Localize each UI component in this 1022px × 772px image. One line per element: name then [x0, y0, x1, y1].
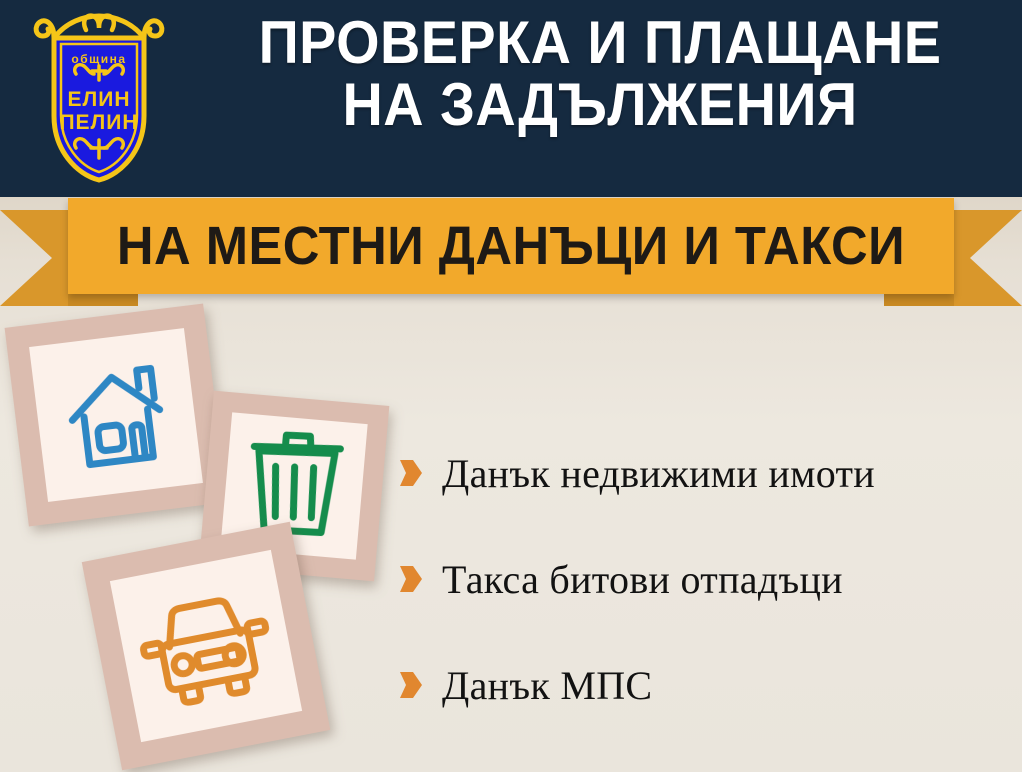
arrow-bullet-icon: [400, 460, 422, 486]
header-bar: община ЕЛИН ПЕЛИН ПРОВЕРКА И ПЛАЩАНЕ НА …: [0, 0, 1022, 197]
stamp-perforated-edge: [5, 304, 228, 527]
page-title-line-2: НА ЗАДЪЛЖЕНИЯ: [219, 74, 982, 136]
ribbon-main-panel: НА МЕСТНИ ДАНЪЦИ И ТАКСИ: [68, 198, 954, 294]
coat-of-arms-shield-icon: [24, 8, 174, 188]
list-item[interactable]: Такса битови отпадъци: [400, 526, 1010, 632]
arrow-bullet-icon: [400, 566, 422, 592]
subtitle-ribbon: НА МЕСТНИ ДАНЪЦИ И ТАКСИ: [0, 196, 1022, 311]
list-item[interactable]: Данък МПС: [400, 632, 1010, 738]
ribbon-label: НА МЕСТНИ ДАНЪЦИ И ТАКСИ: [95, 215, 928, 277]
page-title: ПРОВЕРКА И ПЛАЩАНЕ НА ЗАДЪЛЖЕНИЯ: [219, 12, 982, 136]
tax-type-list: Данък недвижими имоти Такса битови отпад…: [400, 420, 1010, 738]
municipality-logo: община ЕЛИН ПЕЛИН: [24, 8, 174, 188]
arrow-bullet-icon: [400, 672, 422, 698]
list-item-label: Данък МПС: [442, 662, 652, 709]
stamp-perforated-edge: [82, 522, 331, 771]
list-item-label: Такса битови отпадъци: [442, 556, 843, 603]
list-item-label: Данък недвижими имоти: [442, 450, 875, 497]
list-item[interactable]: Данък недвижими имоти: [400, 420, 1010, 526]
poster-canvas: община ЕЛИН ПЕЛИН ПРОВЕРКА И ПЛАЩАНЕ НА …: [0, 0, 1022, 772]
stamp-card-vehicle: [82, 522, 331, 771]
stamp-card-property: [5, 304, 228, 527]
page-title-line-1: ПРОВЕРКА И ПЛАЩАНЕ: [219, 12, 982, 74]
